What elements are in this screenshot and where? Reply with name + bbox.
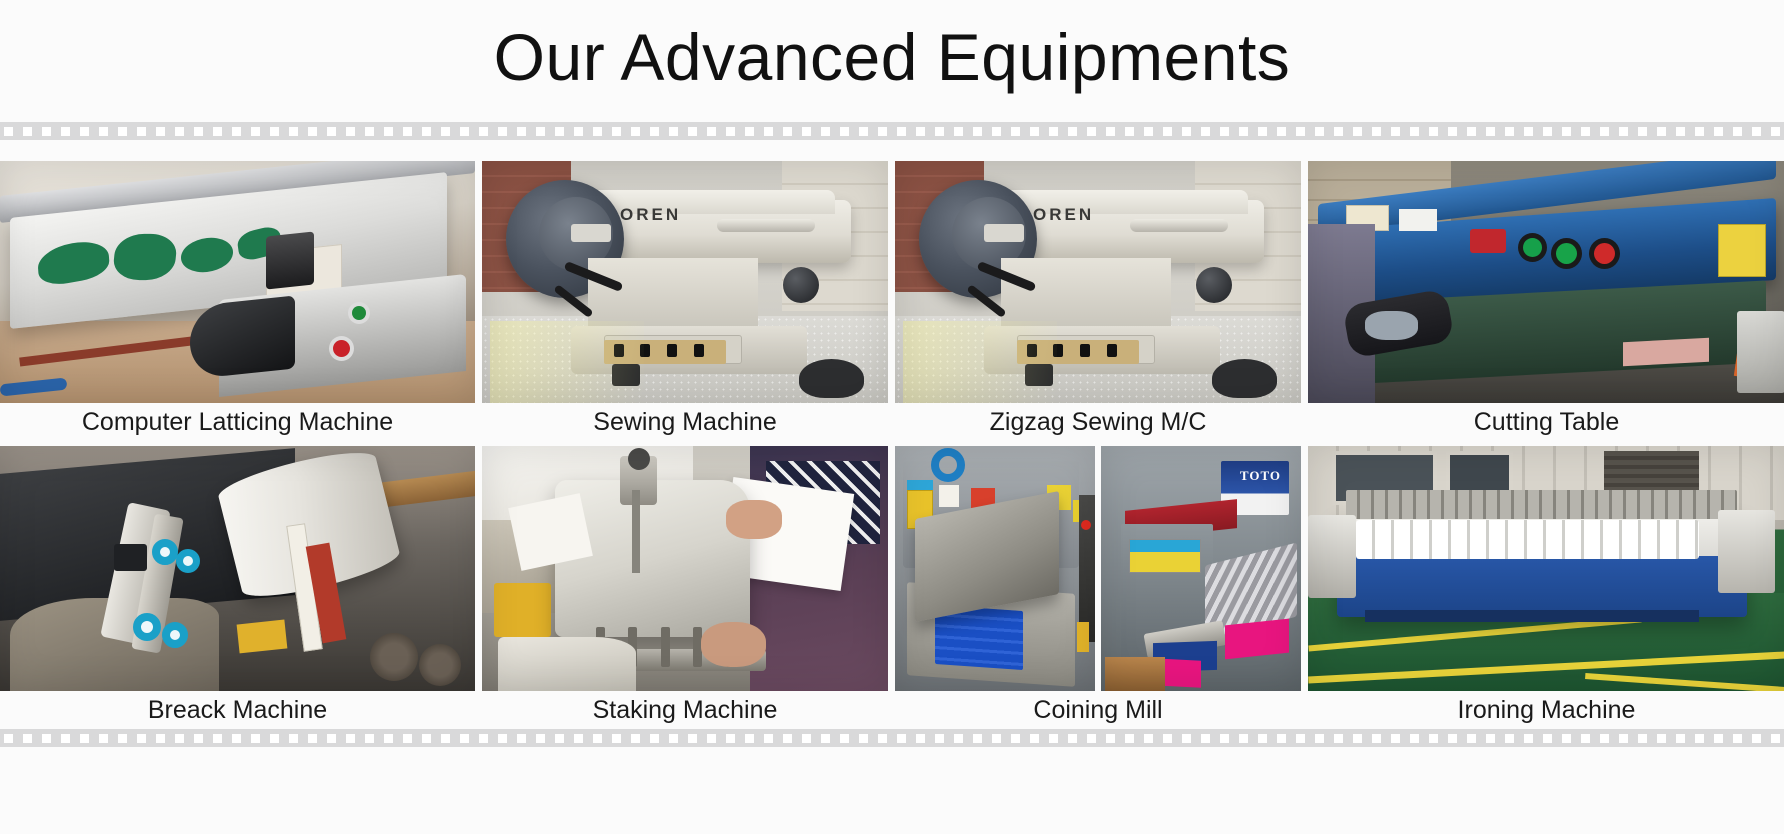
equipment-photo-breack-machine xyxy=(0,446,475,691)
equipment-caption-breack-machine: Breack Machine xyxy=(0,691,475,729)
equipment-photo-coining-mill: TOTO xyxy=(895,446,1301,691)
equipment-caption-sewing-machine: Sewing Machine xyxy=(482,403,888,441)
equipment-photo-cutting-table xyxy=(1308,161,1784,403)
photo-art-latticing xyxy=(0,161,475,403)
equipment-photo-ironing-machine xyxy=(1308,446,1784,691)
page-root: Our Advanced Equipments xyxy=(0,0,1784,834)
divider-top-spacer xyxy=(0,140,1784,161)
photo-art-sewing: OREN xyxy=(482,161,888,403)
gallery-row-1: Computer Latticing Machine OREN xyxy=(0,161,1784,441)
equipment-photo-computer-latticing-machine xyxy=(0,161,475,403)
equipment-tile-computer-latticing-machine[interactable]: Computer Latticing Machine xyxy=(0,161,475,441)
photo-art-breack xyxy=(0,446,475,691)
equipment-photo-coining-mill-right: TOTO xyxy=(1101,446,1301,691)
photo-art-coining-press-open xyxy=(895,446,1095,691)
gallery-row-2: Breack Machine xyxy=(0,446,1784,729)
equipment-tile-staking-machine[interactable]: Staking Machine xyxy=(482,446,888,729)
photo-art-ironing xyxy=(1308,446,1784,691)
equipment-tile-cutting-table[interactable]: Cutting Table xyxy=(1308,161,1784,441)
photo-art-cutting-table xyxy=(1308,161,1784,403)
equipment-tile-coining-mill[interactable]: TOTO Coinin xyxy=(895,446,1301,729)
equipment-photo-coining-mill-left xyxy=(895,446,1095,691)
photo-art-staking xyxy=(482,446,888,691)
equipment-photo-zigzag-sewing-machine: OREN xyxy=(895,161,1301,403)
divider-bottom xyxy=(0,729,1784,747)
equipment-tile-breack-machine[interactable]: Breack Machine xyxy=(0,446,475,729)
equipment-tile-sewing-machine[interactable]: OREN xyxy=(482,161,888,441)
photo-art-coining-press-side: TOTO xyxy=(1101,446,1301,691)
equipment-caption-cutting-table: Cutting Table xyxy=(1308,403,1784,441)
equipment-caption-coining-mill: Coining Mill xyxy=(895,691,1301,729)
equipment-tile-zigzag-sewing-machine[interactable]: OREN xyxy=(895,161,1301,441)
divider-top xyxy=(0,122,1784,140)
equipment-gallery: Computer Latticing Machine OREN xyxy=(0,161,1784,729)
zigzag-machine-brand-label: OREN xyxy=(1033,205,1094,225)
photo-art-zigzag-sewing: OREN xyxy=(895,161,1301,403)
equipment-tile-ironing-machine[interactable]: Ironing Machine xyxy=(1308,446,1784,729)
page-header: Our Advanced Equipments xyxy=(0,0,1784,113)
sewing-machine-brand-label: OREN xyxy=(620,205,681,225)
page-title: Our Advanced Equipments xyxy=(494,24,1291,90)
equipment-caption-computer-latticing-machine: Computer Latticing Machine xyxy=(0,403,475,441)
toto-sign-label: TOTO xyxy=(1240,468,1281,484)
equipment-photo-sewing-machine: OREN xyxy=(482,161,888,403)
equipment-caption-staking-machine: Staking Machine xyxy=(482,691,888,729)
equipment-photo-staking-machine xyxy=(482,446,888,691)
equipment-caption-ironing-machine: Ironing Machine xyxy=(1308,691,1784,729)
equipment-caption-zigzag-sewing-machine: Zigzag Sewing M/C xyxy=(895,403,1301,441)
